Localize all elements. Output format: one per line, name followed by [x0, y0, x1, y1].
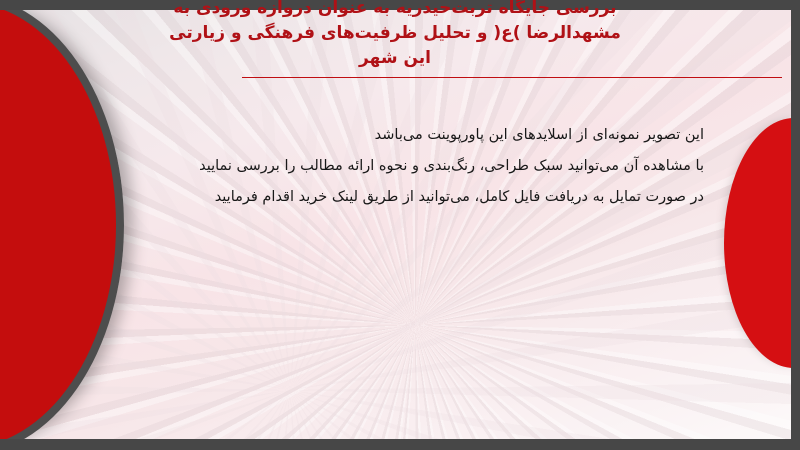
title-divider-rule: [242, 77, 782, 78]
slide-body-text: این تصویر نمونه‌ای از اسلایدهای این پاور…: [104, 120, 704, 213]
body-line-2: با مشاهده آن می‌توانید سبک طراحی، رنگ‌بن…: [104, 151, 704, 182]
body-line-3: در صورت تمایل به دریافت فایل کامل، می‌تو…: [104, 182, 704, 213]
title-line-2: مشهدالرضا )ع( و تحلیل ظرفیت‌های فرهنگی و…: [110, 21, 680, 46]
slide-right-frame-bar: [791, 0, 800, 450]
body-line-1: این تصویر نمونه‌ای از اسلایدهای این پاور…: [104, 120, 704, 151]
title-line-1: بررسی جایگاه تربت‌حیدریه به عنوان دروازه…: [110, 0, 680, 21]
slide-title: بررسی جایگاه تربت‌حیدریه به عنوان دروازه…: [110, 0, 680, 71]
title-line-3: این شهر: [110, 46, 680, 71]
slide-bottom-frame-bar: [0, 439, 800, 450]
presentation-slide: بررسی جایگاه تربت‌حیدریه به عنوان دروازه…: [0, 0, 800, 450]
